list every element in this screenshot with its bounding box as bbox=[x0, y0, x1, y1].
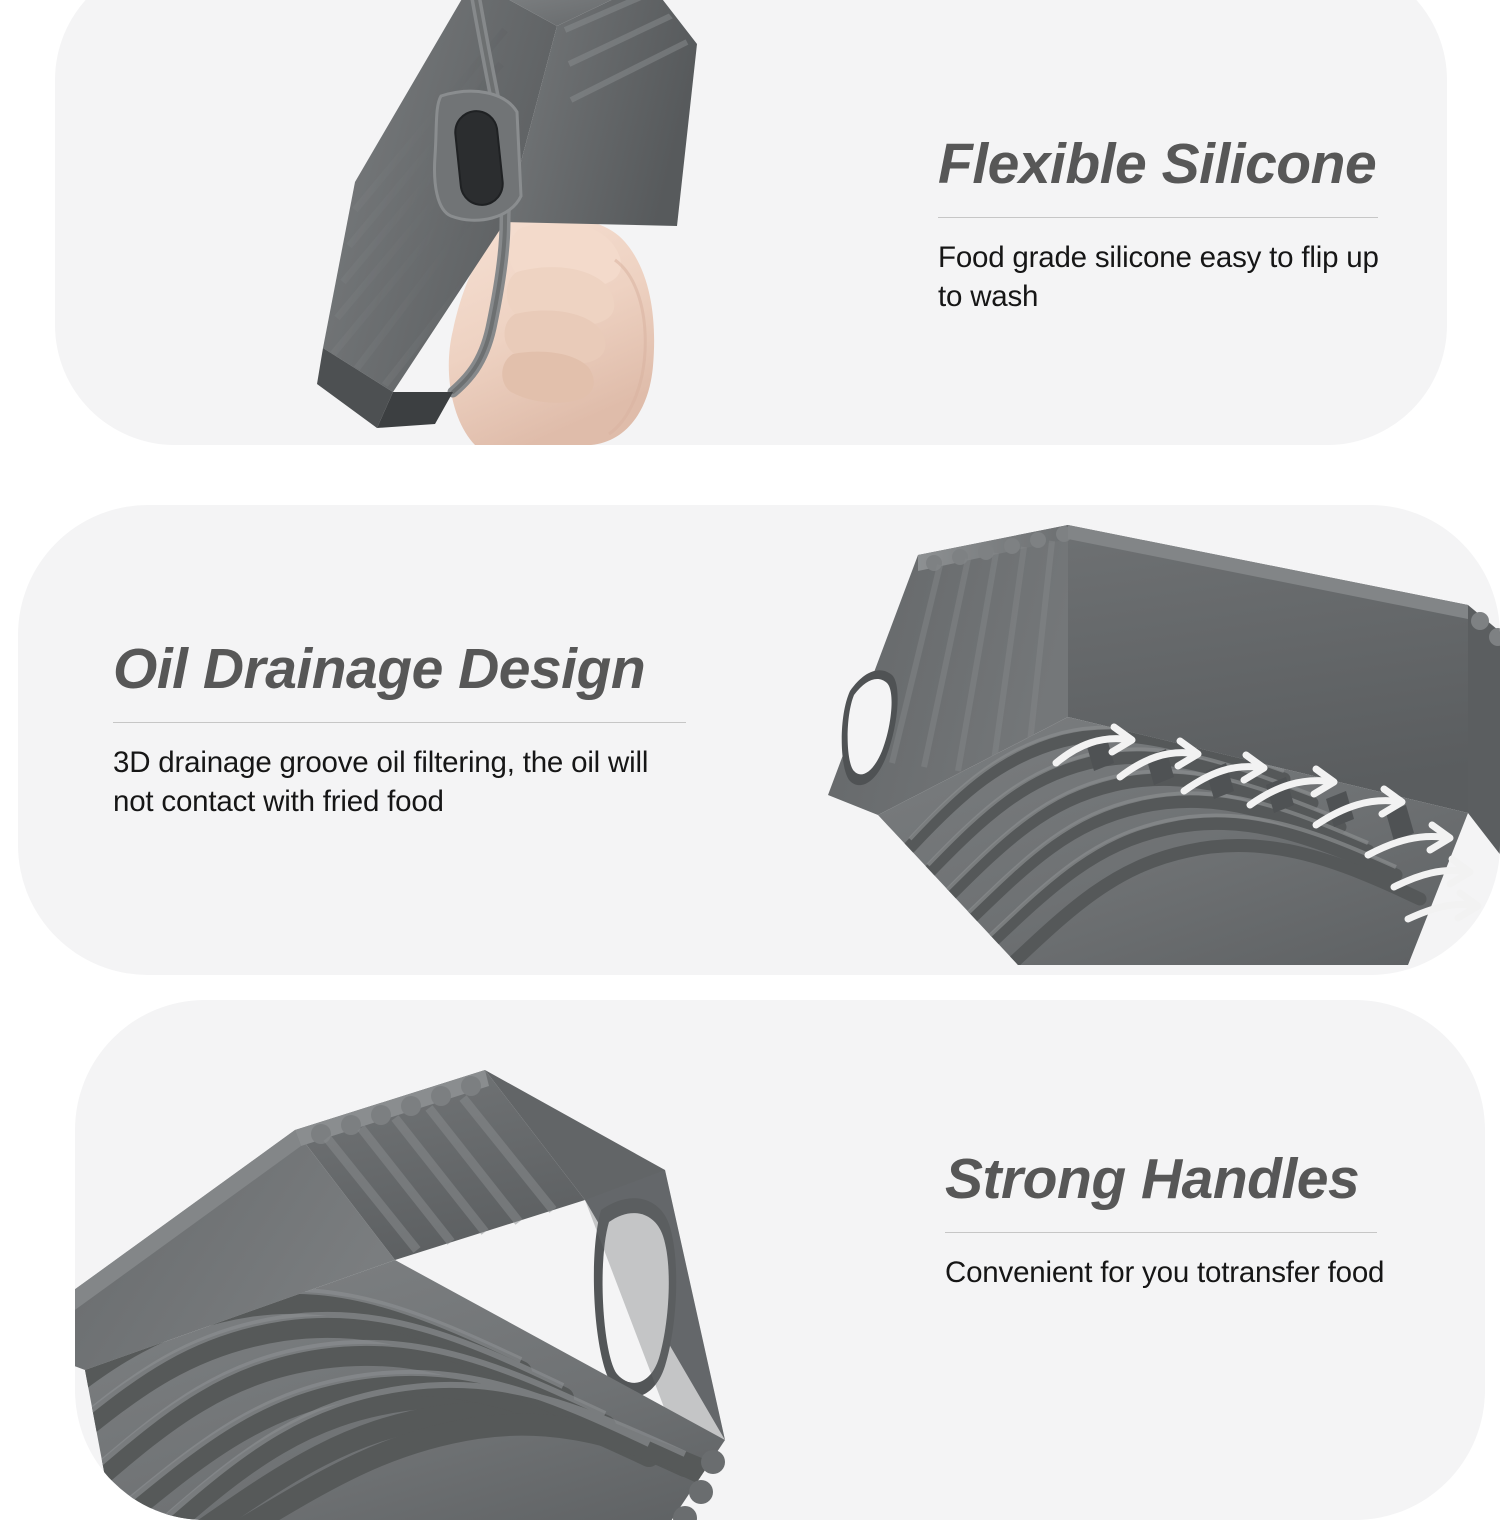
feature-description: Food grade silicone easy to flip up to w… bbox=[938, 218, 1388, 317]
feature-text-flexible-silicone: Flexible Silicone Food grade silicone ea… bbox=[938, 135, 1388, 317]
illustration-hand-holding-liner bbox=[205, 0, 765, 445]
feature-title: Flexible Silicone bbox=[938, 135, 1388, 195]
illustration-liner-handle-closeup bbox=[75, 1010, 825, 1520]
feature-panel-strong-handles: Strong Handles Convenient for you totran… bbox=[75, 1000, 1485, 1520]
hand-holding-liner-svg bbox=[205, 0, 765, 445]
liner-handle-closeup-svg bbox=[75, 1010, 825, 1520]
feature-text-oil-drainage-design: Oil Drainage Design 3D drainage groove o… bbox=[113, 640, 693, 822]
feature-title: Strong Handles bbox=[945, 1150, 1385, 1210]
illustration-liner-drainage-grooves bbox=[768, 505, 1500, 975]
feature-description: 3D drainage groove oil filtering, the oi… bbox=[113, 723, 693, 822]
feature-title: Oil Drainage Design bbox=[113, 640, 693, 700]
feature-description: Convenient for you totransfer food bbox=[945, 1233, 1385, 1293]
basket-body bbox=[828, 525, 1500, 975]
feature-panel-oil-drainage-design: Oil Drainage Design 3D drainage groove o… bbox=[18, 505, 1500, 975]
liner-drainage-svg bbox=[768, 505, 1500, 975]
feature-panel-flexible-silicone: Flexible Silicone Food grade silicone ea… bbox=[55, 0, 1447, 445]
feature-text-strong-handles: Strong Handles Convenient for you totran… bbox=[945, 1150, 1385, 1292]
